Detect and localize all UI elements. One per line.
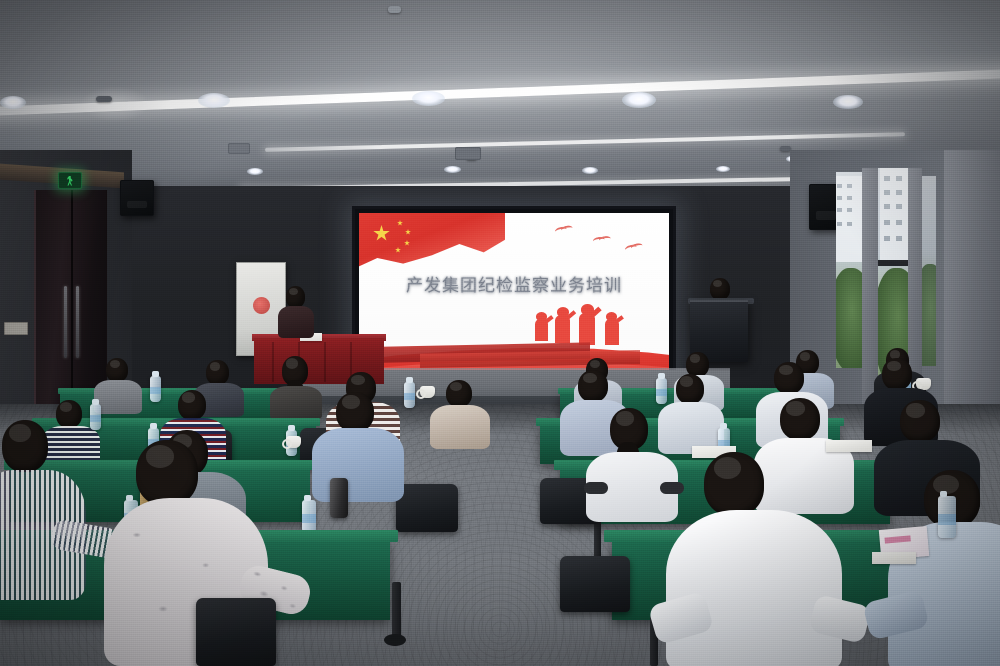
bird-silhouette: [593, 236, 606, 245]
sprinkler-head: [388, 6, 401, 13]
chair[interactable]: [396, 484, 458, 532]
chinese-national-flag: [359, 213, 505, 279]
person-head: [676, 374, 704, 404]
person-torso: [312, 428, 404, 502]
window-pane: [922, 176, 936, 366]
tea-cup: [286, 436, 301, 448]
tea-cup: [420, 386, 435, 398]
person-head: [286, 286, 305, 308]
person-head: [56, 400, 82, 428]
ceiling-downlight: [444, 166, 461, 173]
chair[interactable]: [560, 556, 630, 612]
conference-room-photo: 产发集团纪检监察业务培训: [0, 0, 1000, 666]
water-bottle: [404, 382, 415, 408]
person-head: [136, 440, 198, 506]
chair[interactable]: [196, 598, 276, 666]
ceiling-downlight: [716, 166, 730, 172]
person-head: [900, 400, 940, 442]
water-bottle: [656, 378, 667, 404]
wall-speaker: [120, 180, 154, 216]
window-pane: [836, 172, 862, 368]
ceiling-downlight: [833, 95, 863, 109]
person-head: [178, 390, 206, 420]
person-head: [774, 362, 804, 394]
person-head: [578, 370, 608, 402]
water-bottle: [302, 500, 316, 533]
person-torso: [666, 510, 842, 666]
person-torso: [278, 306, 314, 338]
ceiling-downlight: [622, 92, 656, 108]
sprinkler-head: [96, 96, 112, 102]
person-head: [446, 380, 472, 407]
ceiling-downlight: [247, 168, 263, 175]
table-leg: [392, 582, 401, 640]
person-head: [882, 358, 912, 390]
door-handle[interactable]: [64, 286, 67, 358]
downlight-glow: [80, 86, 150, 122]
person-arm: [584, 482, 608, 494]
bird-silhouette: [624, 244, 637, 254]
flipchart-graphic: [253, 297, 270, 314]
running-man-icon: [67, 176, 73, 186]
bird-silhouette: [554, 226, 567, 235]
handout-paper: [826, 440, 872, 452]
ceiling-downlight: [412, 91, 445, 106]
ceiling-downlight: [582, 167, 598, 174]
water-bottle: [938, 496, 956, 538]
ceiling-downlight: [0, 96, 26, 109]
handout-paper: [872, 552, 916, 564]
ceiling-air-vent: [228, 143, 250, 154]
person-head: [2, 420, 48, 472]
person-head: [704, 452, 764, 516]
thermos-flask: [330, 478, 348, 518]
water-bottle: [90, 404, 101, 430]
person-arm: [660, 482, 684, 494]
table-foot: [384, 634, 406, 646]
ceiling-downlight: [198, 93, 230, 108]
person-torso: [270, 386, 322, 420]
ceiling-air-vent: [455, 147, 481, 160]
person-head: [710, 278, 730, 300]
person-head: [336, 392, 374, 432]
door-handle[interactable]: [76, 286, 79, 358]
person-head: [106, 358, 128, 382]
person-torso: [430, 405, 490, 449]
person-torso: [94, 380, 142, 414]
slide-title: 产发集团纪检监察业务培训: [359, 271, 669, 296]
person-head: [780, 398, 820, 440]
exit-sign: [58, 172, 82, 189]
water-bottle: [150, 376, 161, 402]
light-switch-panel[interactable]: [4, 322, 28, 335]
person-head: [206, 360, 229, 385]
